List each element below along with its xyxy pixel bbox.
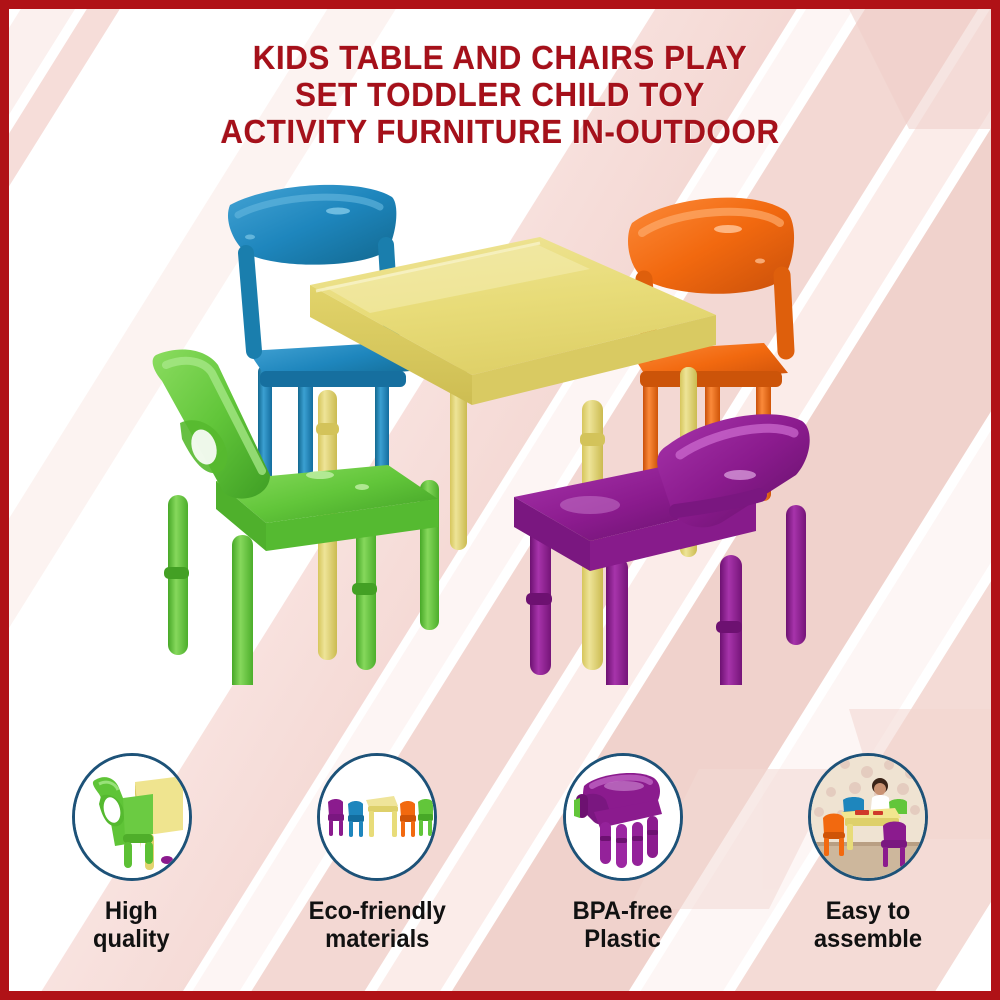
table-and-chairs-illustration xyxy=(120,175,900,685)
hero-product-image xyxy=(120,175,900,685)
upturned-purple-chair-icon xyxy=(563,753,683,881)
chair-purple xyxy=(514,414,810,685)
feature-label-eco-friendly: Eco-friendly materials xyxy=(309,897,446,953)
child-at-table-set-photo-icon xyxy=(808,753,928,881)
title-line-1: KIDS TABLE AND CHAIRS PLAY xyxy=(25,40,975,77)
bpa-free-icon-art xyxy=(566,756,680,878)
chair-and-table-lineup-icon xyxy=(317,753,437,881)
easy-to-assemble-icon-art xyxy=(811,756,925,878)
title-line-2: SET TODDLER CHILD TOY xyxy=(25,77,975,114)
green-chair-yellow-table-closeup-icon xyxy=(72,753,192,881)
feature-badges: High quality xyxy=(9,745,991,990)
feature-high-quality: High quality xyxy=(9,745,255,990)
title-line-3: ACTIVITY FURNITURE IN-OUTDOOR xyxy=(25,114,975,151)
feature-label-easy-to-assemble: Easy to assemble xyxy=(814,897,922,953)
eco-friendly-icon-art xyxy=(320,756,434,878)
feature-eco-friendly-materials: Eco-friendly materials xyxy=(255,745,501,990)
product-listing-image: KIDS TABLE AND CHAIRS PLAY SET TODDLER C… xyxy=(0,0,1000,1000)
feature-label-bpa-free: BPA-free Plastic xyxy=(573,897,673,953)
chair-green xyxy=(153,350,439,685)
product-title: KIDS TABLE AND CHAIRS PLAY SET TODDLER C… xyxy=(0,40,1000,151)
high-quality-icon-art xyxy=(75,756,189,878)
feature-bpa-free-plastic: BPA-free Plastic xyxy=(500,745,746,990)
feature-label-high-quality: High quality xyxy=(93,897,170,953)
feature-easy-to-assemble: Easy to assemble xyxy=(746,745,992,990)
